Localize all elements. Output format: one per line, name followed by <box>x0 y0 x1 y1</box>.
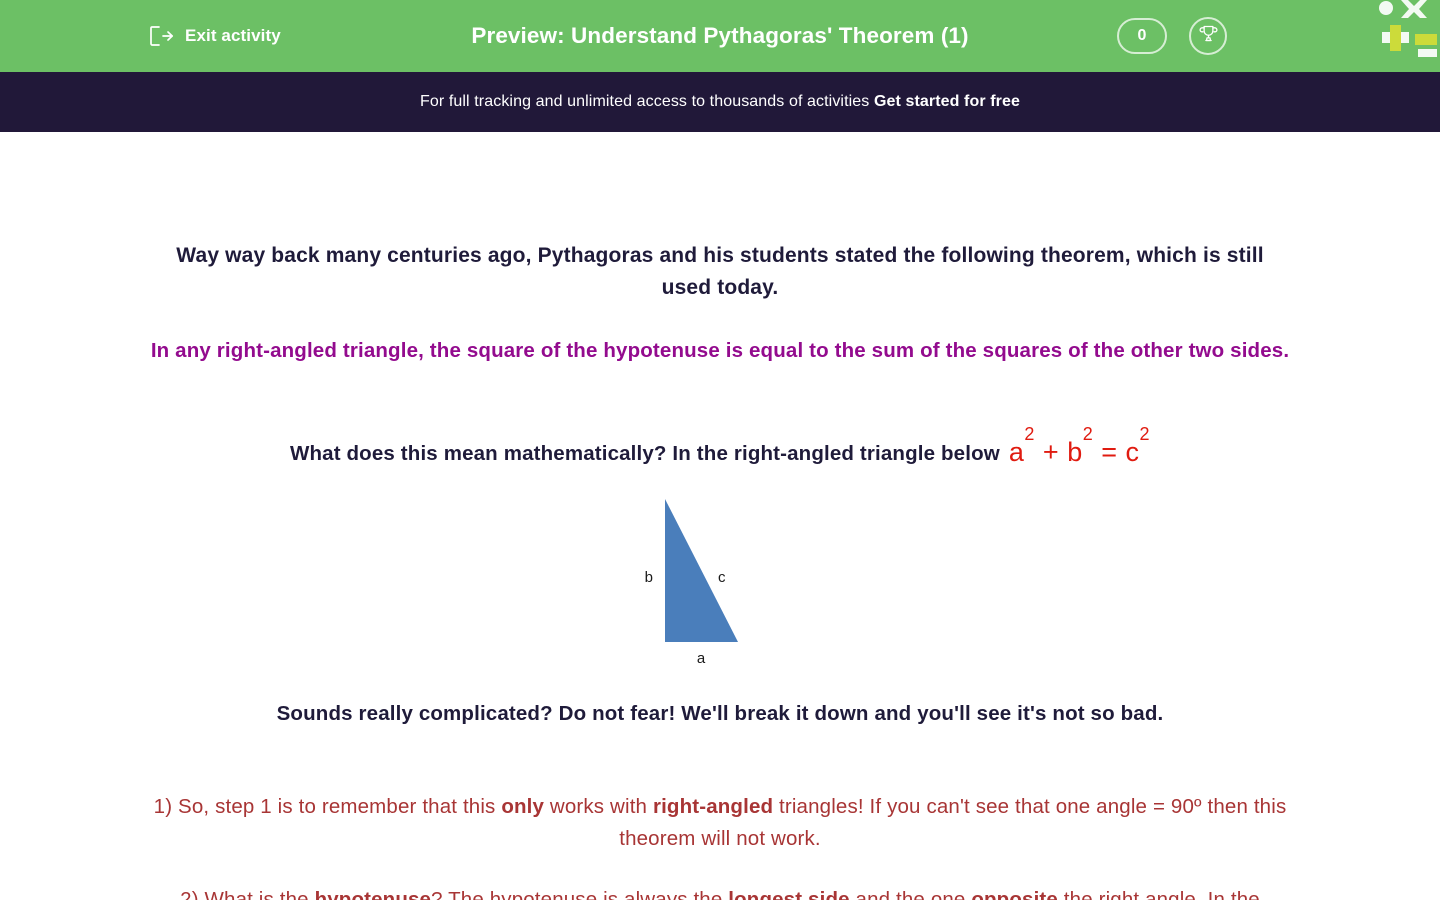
equation-c-exponent: 2 <box>1140 424 1151 444</box>
right-angled-triangle-diagram: b c a <box>620 487 820 677</box>
score-value: 0 <box>1138 27 1147 45</box>
equation-a: a <box>1009 437 1025 467</box>
equation-a-exponent: 2 <box>1024 424 1035 444</box>
step1-text-1: 1) So, step 1 is to remember that this <box>154 795 502 818</box>
header-actions: 0 <box>1117 17 1227 55</box>
step1-bold-right-angled: right-angled <box>653 795 773 818</box>
activity-slide: Way way back many centuries ago, Pythago… <box>0 132 1440 900</box>
triangle-shape <box>665 499 738 642</box>
equation-b-exponent: 2 <box>1083 424 1094 444</box>
equation-c: c <box>1126 437 1140 467</box>
math-lead-text: What does this mean mathematically? In t… <box>290 442 1000 465</box>
triangle-figure: b c a <box>0 487 1440 727</box>
reassurance-paragraph: Sounds really complicated? Do not fear! … <box>150 698 1290 730</box>
step2-text-3: and the one <box>850 888 972 900</box>
app-header: Exit activity Preview: Understand Pythag… <box>0 0 1440 72</box>
get-started-link[interactable]: Get started for free <box>874 93 1020 110</box>
exit-activity-label: Exit activity <box>185 26 281 46</box>
equation-plus: + <box>1035 437 1067 467</box>
equation-b: b <box>1067 437 1083 467</box>
promo-banner: For full tracking and unlimited access t… <box>0 72 1440 132</box>
step-1-paragraph: 1) So, step 1 is to remember that this o… <box>150 791 1290 854</box>
triangle-label-b: b <box>645 569 653 586</box>
step2-bold-hypotenuse: hypotenuse <box>315 888 432 900</box>
score-badge[interactable]: 0 <box>1117 18 1167 54</box>
step-2-paragraph: 2) What is the hypotenuse? The hypotenus… <box>150 884 1290 900</box>
theorem-statement: In any right-angled triangle, the square… <box>140 335 1300 367</box>
step1-bold-only: only <box>501 795 544 818</box>
pythagorean-equation: a2 + b2 = c2 <box>1009 437 1150 467</box>
step2-bold-longest-side: longest side <box>728 888 849 900</box>
step2-bold-opposite: opposite <box>971 888 1058 900</box>
promo-message: For full tracking and unlimited access t… <box>420 93 874 110</box>
step1-text-2: works with <box>544 795 653 818</box>
trophy-button[interactable] <box>1189 17 1227 55</box>
trophy-icon <box>1198 23 1219 49</box>
promo-text: For full tracking and unlimited access t… <box>420 93 1020 111</box>
triangle-label-c: c <box>718 569 726 586</box>
exit-arrow-icon <box>148 24 174 48</box>
step2-text-2: ? The hypotenuse is always the <box>431 888 728 900</box>
math-question-line: What does this mean mathematically? In t… <box>150 432 1290 474</box>
step2-text-1: 2) What is the <box>180 888 314 900</box>
exit-activity-button[interactable]: Exit activity <box>148 24 281 48</box>
brand-mark-icon <box>1360 0 1440 58</box>
intro-paragraph: Way way back many centuries ago, Pythago… <box>150 240 1290 305</box>
equation-equals: = <box>1093 437 1125 467</box>
triangle-label-a: a <box>697 650 706 667</box>
